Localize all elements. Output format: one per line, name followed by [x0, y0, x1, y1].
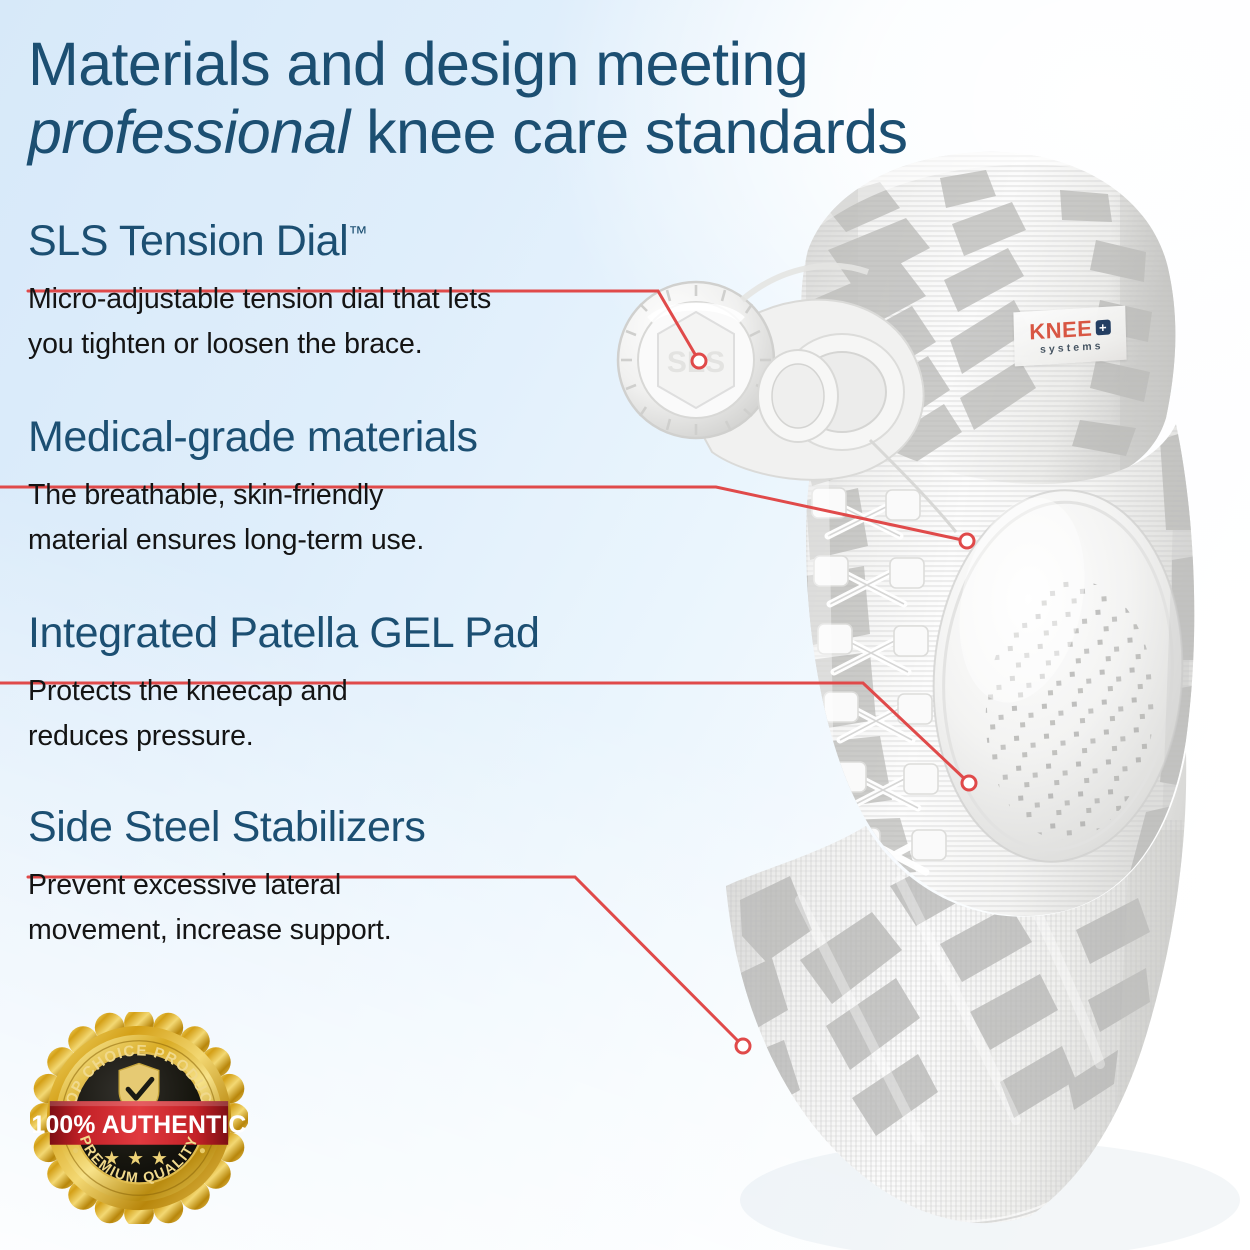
feature-desc-line-1: Prevent excessive lateral [28, 863, 426, 908]
feature-description: Protects the kneecap and reduces pressur… [28, 669, 540, 759]
medical-plus-icon: + [1095, 320, 1110, 336]
feature-title-text: Medical-grade materials [28, 413, 478, 461]
feature-side-steel-stabilizers: Side Steel Stabilizers Prevent excessive… [28, 805, 426, 953]
headline-line-1: Materials and design meeting [28, 30, 808, 98]
feature-title-text: SLS Tension Dial [28, 217, 348, 265]
badge-banner: 100% AUTHENTIC [31, 1101, 246, 1145]
feature-medical-grade-materials: Medical-grade materials The breathable, … [28, 415, 478, 563]
trademark-icon: ™ [348, 223, 367, 245]
feature-title: Side Steel Stabilizers [28, 805, 426, 850]
feature-sls-tension-dial: SLS Tension Dial™ Micro-adjustable tensi… [28, 219, 491, 367]
brand-subtitle: systems [1040, 341, 1104, 355]
feature-description: Micro-adjustable tension dial that lets … [28, 277, 491, 367]
feature-title: Integrated Patella GEL Pad [28, 611, 540, 656]
dial-sls-text: SLS [667, 346, 725, 379]
feature-description: The breathable, skin-friendly material e… [28, 473, 478, 563]
brand-label: KNEE + systems [1013, 306, 1126, 367]
page-title: Materials and design meeting professiona… [28, 30, 1088, 167]
brand-label-top: KNEE + [1029, 316, 1111, 343]
headline-emphasis: professional [28, 98, 350, 166]
badge-banner-text: 100% AUTHENTIC [31, 1112, 246, 1139]
feature-desc-line-2: reduces pressure. [28, 714, 540, 759]
feature-title: SLS Tension Dial™ [28, 219, 491, 264]
feature-title-text: Integrated Patella GEL Pad [28, 609, 540, 657]
feature-integrated-patella-gel-pad: Integrated Patella GEL Pad Protects the … [28, 611, 540, 759]
feature-desc-line-2: you tighten or loosen the brace. [28, 322, 491, 367]
feature-description: Prevent excessive lateral movement, incr… [28, 863, 426, 953]
feature-desc-line-2: movement, increase support. [28, 908, 426, 953]
feature-title-text: Side Steel Stabilizers [28, 803, 426, 851]
feature-desc-line-1: Protects the kneecap and [28, 669, 540, 714]
headline-line-2: professional knee care standards [28, 98, 1088, 166]
feature-title: Medical-grade materials [28, 415, 478, 460]
feature-desc-line-2: material ensures long-term use. [28, 518, 478, 563]
feature-desc-line-1: Micro-adjustable tension dial that lets [28, 277, 491, 322]
headline-line-2-rest: knee care standards [350, 98, 908, 166]
authenticity-badge: TOP CHOICE PRODUCT 100% AUTHENTIC ★★★ PR… [30, 1012, 248, 1224]
feature-desc-line-1: The breathable, skin-friendly [28, 473, 478, 518]
brand-name: KNEE [1029, 317, 1093, 343]
